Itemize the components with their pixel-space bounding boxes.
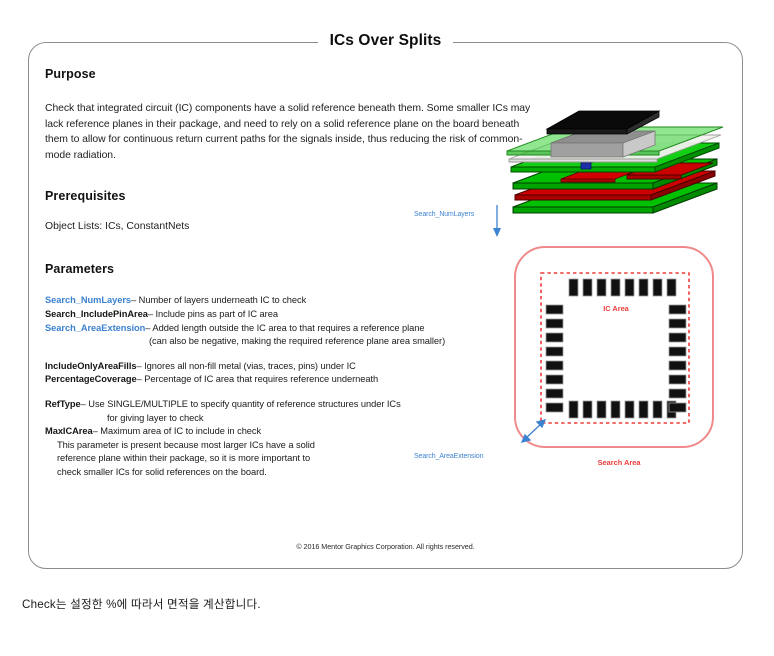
parameter-row-reftype: RefType– Use SINGLE/MULTIPLE to specify … bbox=[45, 398, 537, 412]
area-extension-arrow-icon bbox=[522, 420, 545, 442]
pin-column-right bbox=[669, 305, 686, 412]
parameters-list: Search_NumLayers– Number of layers under… bbox=[45, 294, 537, 479]
parameter-desc-search-areaextension: – Added length outside the IC area to th… bbox=[145, 323, 424, 333]
parameter-row-maxicarea: MaxICArea– Maximum area of IC to include… bbox=[45, 425, 537, 439]
pcb-stackup-figure bbox=[499, 103, 731, 223]
slide-title-text: ICs Over Splits bbox=[318, 31, 454, 51]
ic-package-3d bbox=[547, 111, 659, 157]
parameter-row-search-areaextension: Search_AreaExtension– Added length outsi… bbox=[45, 322, 537, 336]
parameter-name-includeonlyareafills: IncludeOnlyAreaFills bbox=[45, 361, 136, 371]
purpose-heading: Purpose bbox=[45, 67, 537, 81]
purpose-paragraph: Check that integrated circuit (IC) compo… bbox=[45, 101, 537, 163]
ic-area-label: IC Area bbox=[603, 304, 629, 313]
pin-column-left bbox=[546, 305, 563, 412]
parameter-name-percentagecoverage: PercentageCoverage bbox=[45, 374, 137, 384]
search-area-label: Search Area bbox=[598, 458, 642, 467]
slide-title: ICs Over Splits bbox=[29, 31, 742, 51]
pin-row-bottom bbox=[569, 401, 676, 418]
parameter-desc-search-includepinarea: – Include pins as part of IC area bbox=[148, 309, 278, 319]
parameter-name-search-areaextension: Search_AreaExtension bbox=[45, 323, 145, 333]
parameter-continuation-reftype: for giving layer to check bbox=[45, 412, 537, 426]
ic-area-figure: IC Area Search Area bbox=[499, 239, 734, 471]
parameter-name-maxicarea: MaxICArea bbox=[45, 426, 93, 436]
parameter-desc-reftype: – Use SINGLE/MULTIPLE to specify quantit… bbox=[81, 399, 401, 409]
parameter-desc-includeonlyareafills: – Ignores all non-fill metal (vias, trac… bbox=[136, 361, 355, 371]
korean-caption: Check는 설정한 %에 따라서 면적을 계산합니다. bbox=[22, 596, 261, 612]
numlayers-arrow-icon bbox=[489, 205, 505, 239]
footer-copyright: © 2016 Mentor Graphics Corporation. All … bbox=[29, 542, 742, 551]
prerequisites-text: Object Lists: ICs, ConstantNets bbox=[45, 221, 537, 232]
slide-frame: ICs Over Splits Purpose Check that integ… bbox=[28, 42, 743, 569]
label-search-areaextension: Search_AreaExtension bbox=[414, 453, 483, 460]
parameter-name-search-includepinarea: Search_IncludePinArea bbox=[45, 309, 148, 319]
parameter-note-maxicarea-3: check smaller ICs for solid references o… bbox=[45, 466, 537, 480]
parameter-desc-percentagecoverage: – Percentage of IC area that requires re… bbox=[137, 374, 379, 384]
parameter-name-reftype: RefType bbox=[45, 399, 81, 409]
parameter-desc-search-numlayers: – Number of layers underneath IC to chec… bbox=[131, 295, 306, 305]
parameter-row-includeonlyareafills: IncludeOnlyAreaFills– Ignores all non-fi… bbox=[45, 360, 537, 374]
parameter-desc-maxicarea: – Maximum area of IC to include in check bbox=[93, 426, 262, 436]
content-column: Purpose Check that integrated circuit (I… bbox=[45, 67, 537, 480]
parameter-row-search-includepinarea: Search_IncludePinArea– Include pins as p… bbox=[45, 308, 537, 322]
parameter-name-search-numlayers: Search_NumLayers bbox=[45, 295, 131, 305]
prerequisites-heading: Prerequisites bbox=[45, 189, 537, 203]
parameters-heading: Parameters bbox=[45, 262, 537, 276]
parameter-row-search-numlayers: Search_NumLayers– Number of layers under… bbox=[45, 294, 537, 308]
parameter-row-percentagecoverage: PercentageCoverage– Percentage of IC are… bbox=[45, 373, 537, 387]
pin-row-top bbox=[569, 279, 676, 296]
parameter-continuation-areaextension: (can also be negative, making the requir… bbox=[45, 335, 537, 349]
parameter-note-maxicarea-1: This parameter is present because most l… bbox=[45, 439, 537, 453]
label-search-numlayers: Search_NumLayers bbox=[414, 211, 474, 218]
